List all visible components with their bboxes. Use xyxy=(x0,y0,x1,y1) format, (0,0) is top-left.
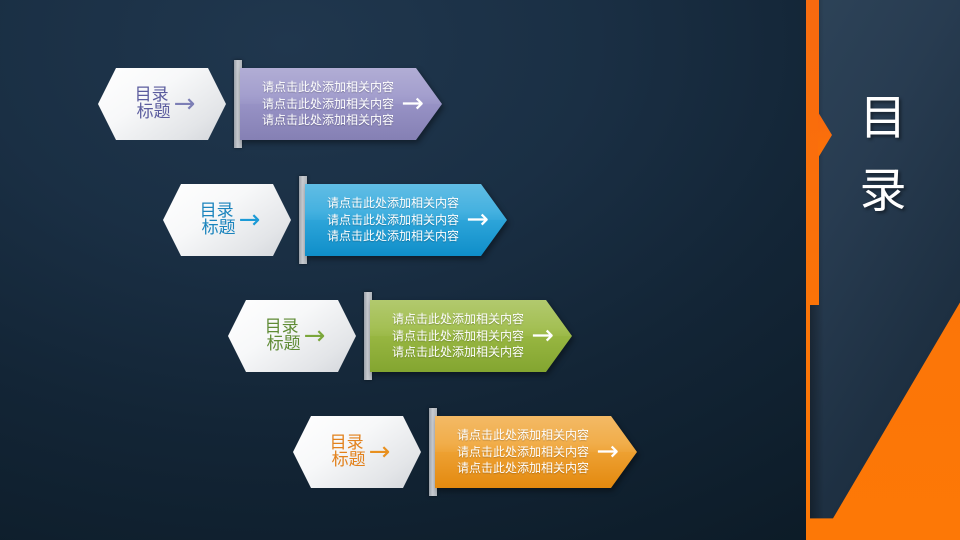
agenda-banner[interactable]: 请点击此处添加相关内容 请点击此处添加相关内容 请点击此处添加相关内容 → xyxy=(305,184,507,256)
agenda-banner[interactable]: 请点击此处添加相关内容 请点击此处添加相关内容 请点击此处添加相关内容 → xyxy=(435,416,637,488)
arrow-right-icon: → xyxy=(596,438,619,465)
agenda-badge[interactable]: 目录 标题 → xyxy=(163,184,291,256)
agenda-banner-line: 请点击此处添加相关内容 xyxy=(313,212,473,229)
agenda-banner-line: 请点击此处添加相关内容 xyxy=(248,79,408,96)
arrow-right-icon: → xyxy=(369,439,391,465)
arrow-right-icon: → xyxy=(531,322,554,349)
arrow-right-icon: → xyxy=(304,323,326,349)
agenda-banner[interactable]: 请点击此处添加相关内容 请点击此处添加相关内容 请点击此处添加相关内容 → xyxy=(370,300,572,372)
agenda-badge-line2: 标题 xyxy=(265,336,301,353)
arrow-right-icon: → xyxy=(174,91,196,117)
agenda-banner-line: 请点击此处添加相关内容 xyxy=(313,228,473,245)
vertical-page-title: 目 录 xyxy=(806,0,960,310)
agenda-banner-line: 请点击此处添加相关内容 xyxy=(248,96,408,113)
agenda-banner[interactable]: 请点击此处添加相关内容 请点击此处添加相关内容 请点击此处添加相关内容 → xyxy=(240,68,442,140)
agenda-badge-content: 目录 标题 → xyxy=(129,87,196,121)
arrow-right-icon: → xyxy=(466,206,489,233)
agenda-badge-text: 目录 标题 xyxy=(200,203,236,237)
agenda-banner-wrap: 请点击此处添加相关内容 请点击此处添加相关内容 请点击此处添加相关内容 → xyxy=(234,68,442,140)
agenda-banner-line: 请点击此处添加相关内容 xyxy=(378,311,538,328)
arrow-right-icon: → xyxy=(401,90,424,117)
agenda-badge-line2: 标题 xyxy=(200,220,236,237)
agenda-badge-text: 目录 标题 xyxy=(135,87,171,121)
agenda-banner-line: 请点击此处添加相关内容 xyxy=(443,444,603,461)
page-title-char-1: 目 xyxy=(860,95,907,142)
agenda-badge[interactable]: 目录 标题 → xyxy=(228,300,356,372)
agenda-badge[interactable]: 目录 标题 → xyxy=(293,416,421,488)
agenda-banner-line: 请点击此处添加相关内容 xyxy=(443,427,603,444)
right-decoration-panel: 目 录 xyxy=(806,0,960,540)
arrow-right-icon: → xyxy=(239,207,261,233)
agenda-badge[interactable]: 目录 标题 → xyxy=(98,68,226,140)
agenda-badge-content: 目录 标题 → xyxy=(259,319,326,353)
agenda-banner-line: 请点击此处添加相关内容 xyxy=(378,344,538,361)
slide-canvas: 目 录 目录 标题 → 请点击此处添加相关内容 请点击此处添加相关内容 xyxy=(0,0,960,540)
page-title-char-2: 录 xyxy=(860,168,907,215)
agenda-banner-wrap: 请点击此处添加相关内容 请点击此处添加相关内容 请点击此处添加相关内容 → xyxy=(364,300,572,372)
agenda-badge-text: 目录 标题 xyxy=(330,435,366,469)
agenda-badge-content: 目录 标题 → xyxy=(324,435,391,469)
agenda-banner-line: 请点击此处添加相关内容 xyxy=(313,195,473,212)
agenda-banner-wrap: 请点击此处添加相关内容 请点击此处添加相关内容 请点击此处添加相关内容 → xyxy=(299,184,507,256)
agenda-badge-text: 目录 标题 xyxy=(265,319,301,353)
agenda-banner-line: 请点击此处添加相关内容 xyxy=(443,460,603,477)
agenda-banner-line: 请点击此处添加相关内容 xyxy=(378,328,538,345)
agenda-banner-wrap: 请点击此处添加相关内容 请点击此处添加相关内容 请点击此处添加相关内容 → xyxy=(429,416,637,488)
agenda-badge-line2: 标题 xyxy=(135,104,171,121)
agenda-banner-line: 请点击此处添加相关内容 xyxy=(248,112,408,129)
agenda-badge-line2: 标题 xyxy=(330,452,366,469)
agenda-badge-content: 目录 标题 → xyxy=(194,203,261,237)
